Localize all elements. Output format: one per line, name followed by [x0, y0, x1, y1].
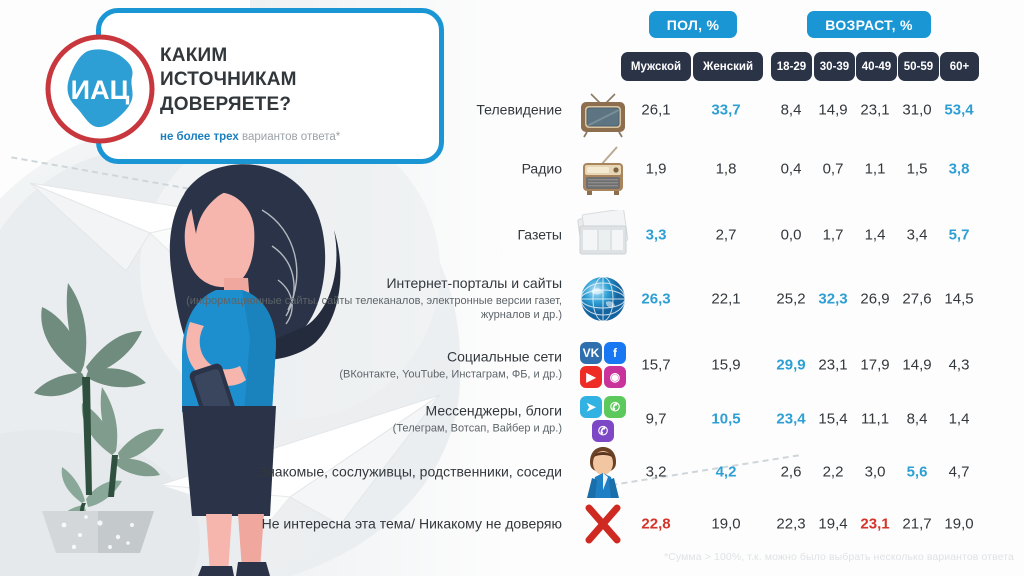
- whatsapp-icon: ✆: [604, 396, 626, 418]
- row-label-main: Знакомые, сослуживцы, родственники, сосе…: [182, 463, 562, 480]
- cell-value: 32,3: [818, 291, 847, 308]
- cell-value: 4,3: [949, 357, 970, 374]
- viber-icon: ✆: [592, 420, 614, 442]
- cell-value: 3,3: [646, 227, 667, 244]
- messengers-icon: ➤✆ ✆: [572, 396, 634, 442]
- row-label-sub: (Телеграм, Вотсап, Вайбер и др.): [182, 421, 562, 435]
- cell-value: 22,1: [711, 291, 740, 308]
- vintage-radio-icon: [572, 141, 634, 197]
- cell-value: 0,4: [781, 161, 802, 178]
- row-label: Газеты: [182, 226, 562, 243]
- vk-icon: VK: [580, 342, 602, 364]
- cell-value: 26,3: [641, 291, 670, 308]
- cell-value: 1,4: [865, 227, 886, 244]
- row-label: Знакомые, сослуживцы, родственники, сосе…: [182, 463, 562, 480]
- cell-value: 3,8: [949, 161, 970, 178]
- cell-value: 27,6: [902, 291, 931, 308]
- row-label-sub: (ВКонтакте, YouTube, Инстаграм, ФБ, и др…: [182, 367, 562, 381]
- cell-value: 19,0: [711, 516, 740, 533]
- cell-value: 2,7: [716, 227, 737, 244]
- column-header-60plus: 60+: [940, 52, 979, 81]
- row-label: Не интересна эта тема/ Никакому не довер…: [182, 515, 562, 532]
- cell-value: 15,4: [818, 411, 847, 428]
- cell-value: 3,2: [646, 464, 667, 481]
- cell-value: 0,0: [781, 227, 802, 244]
- group-header-age: ВОЗРАСТ, %: [807, 11, 931, 38]
- footnote: *Сумма > 100%, т.к. можно было выбрать н…: [0, 551, 1014, 563]
- cell-value: 10,5: [711, 411, 740, 428]
- group-header-gender: ПОЛ, %: [649, 11, 737, 38]
- instagram-icon: ◉: [604, 366, 626, 388]
- cell-value: 23,1: [860, 516, 889, 533]
- cell-value: 23,1: [860, 102, 889, 119]
- column-header-male: Мужской: [621, 52, 691, 81]
- cell-value: 26,1: [641, 102, 670, 119]
- row-label-main: Интернет-порталы и сайты: [182, 275, 562, 292]
- cell-value: 1,7: [823, 227, 844, 244]
- cell-value: 53,4: [944, 102, 973, 119]
- cell-value: 8,4: [781, 102, 802, 119]
- cell-value: 19,4: [818, 516, 847, 533]
- businesswoman-icon: [572, 446, 634, 498]
- cell-value: 5,6: [907, 464, 928, 481]
- column-header-40-49: 40-49: [856, 52, 897, 81]
- column-header-18-29: 18-29: [771, 52, 812, 81]
- cell-value: 14,5: [944, 291, 973, 308]
- cell-value: 15,7: [641, 357, 670, 374]
- row-label: Телевидение: [182, 101, 562, 118]
- cell-value: 14,9: [902, 357, 931, 374]
- facebook-icon: f: [604, 342, 626, 364]
- cell-value: 9,7: [646, 411, 667, 428]
- cell-value: 11,1: [861, 411, 889, 428]
- social-networks-icon: VKf▶◉: [572, 342, 634, 388]
- icon-grid: VKf▶◉: [580, 342, 626, 388]
- cell-value: 4,7: [949, 464, 970, 481]
- youtube-icon: ▶: [580, 366, 602, 388]
- cell-value: 29,9: [776, 357, 805, 374]
- cell-value: 15,9: [711, 357, 740, 374]
- row-label: Интернет-порталы и сайты(информационные …: [182, 275, 562, 323]
- red-cross-icon: [572, 502, 634, 546]
- row-label-sub: (информационные сайты, сайты телеканалов…: [182, 294, 562, 323]
- cell-value: 1,9: [646, 161, 667, 178]
- cell-value: 2,2: [823, 464, 844, 481]
- cell-value: 22,8: [641, 516, 670, 533]
- cell-value: 14,9: [818, 102, 847, 119]
- row-label: Мессенджеры, блоги(Телеграм, Вотсап, Вай…: [182, 402, 562, 435]
- retro-tv-icon: [572, 82, 634, 138]
- icon-grid: ➤✆: [580, 396, 626, 418]
- row-label-main: Социальные сети: [182, 348, 562, 365]
- globe-icon: [572, 274, 634, 324]
- row-label-main: Не интересна эта тема/ Никакому не довер…: [182, 515, 562, 532]
- column-header-50-59: 50-59: [898, 52, 939, 81]
- data-table: ПОЛ, % ВОЗРАСТ, % Мужской Женский 18-29 …: [0, 0, 1024, 576]
- column-header-30-39: 30-39: [814, 52, 855, 81]
- cell-value: 17,9: [860, 357, 889, 374]
- cell-value: 26,9: [860, 291, 889, 308]
- cell-value: 19,0: [944, 516, 973, 533]
- row-label-main: Радио: [182, 160, 562, 177]
- infographic-root: КАКИМ ИСТОЧНИКАМ ДОВЕРЯЕТЕ? не более тре…: [0, 0, 1024, 576]
- row-label-main: Газеты: [182, 226, 562, 243]
- row-label: Социальные сети(ВКонтакте, YouTube, Инст…: [182, 348, 562, 381]
- cell-value: 1,1: [865, 161, 886, 178]
- cell-value: 3,4: [907, 227, 928, 244]
- cell-value: 25,2: [776, 291, 805, 308]
- column-header-female: Женский: [693, 52, 763, 81]
- row-label-main: Телевидение: [182, 101, 562, 118]
- cell-value: 0,7: [823, 161, 844, 178]
- cell-value: 22,3: [776, 516, 805, 533]
- cell-value: 5,7: [949, 227, 970, 244]
- row-label: Радио: [182, 160, 562, 177]
- cell-value: 1,4: [949, 411, 970, 428]
- cell-value: 3,0: [865, 464, 886, 481]
- cell-value: 21,7: [902, 516, 931, 533]
- cell-value: 31,0: [902, 102, 931, 119]
- cell-value: 1,5: [907, 161, 928, 178]
- cell-value: 1,8: [716, 161, 737, 178]
- cell-value: 4,2: [716, 464, 737, 481]
- cell-value: 23,1: [818, 357, 847, 374]
- newspapers-icon: [572, 210, 634, 260]
- row-label-main: Мессенджеры, блоги: [182, 402, 562, 419]
- cell-value: 8,4: [907, 411, 928, 428]
- cell-value: 33,7: [711, 102, 740, 119]
- telegram-icon: ➤: [580, 396, 602, 418]
- cell-value: 2,6: [781, 464, 802, 481]
- cell-value: 23,4: [776, 411, 805, 428]
